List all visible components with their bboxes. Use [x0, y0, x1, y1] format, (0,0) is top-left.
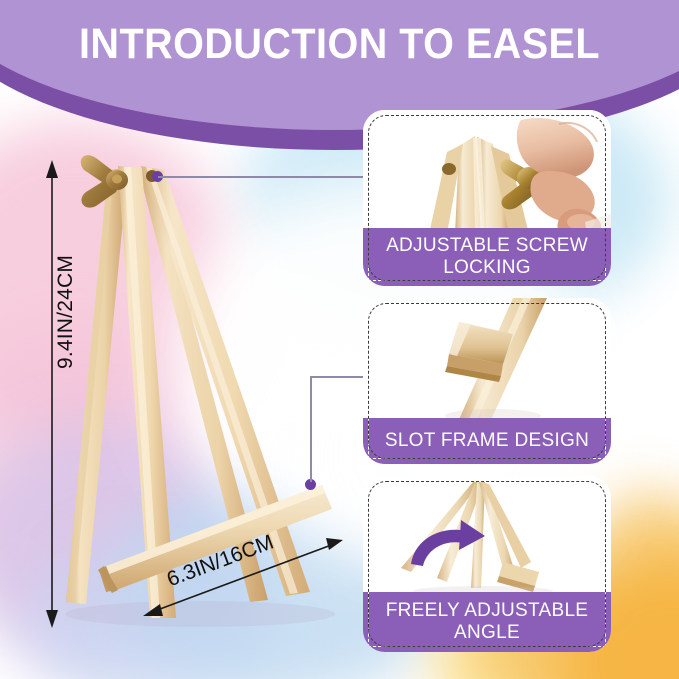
height-dimension-label: 9.4IN/24CM	[54, 252, 78, 372]
feature-photo-slot-frame	[363, 298, 611, 424]
feature-card-adjustable-screw-locking[interactable]: ADJUSTABLE SCREW LOCKING	[363, 110, 611, 286]
feature-label-slot-frame: SLOT FRAME DESIGN	[385, 430, 589, 452]
feature-photo-screw-locking	[363, 110, 611, 234]
callout-line-1	[158, 176, 364, 178]
infographic-page: INTRODUCTION TO EASEL	[0, 0, 679, 679]
feature-card-freely-adjustable-angle[interactable]: FREELY ADJUSTABLE ANGLE	[363, 476, 611, 652]
feature-label-bar-screw-locking: ADJUSTABLE SCREW LOCKING	[363, 228, 611, 286]
feature-card-slot-frame-design[interactable]: SLOT FRAME DESIGN	[363, 298, 611, 464]
feature-label-screw-locking: ADJUSTABLE SCREW LOCKING	[363, 235, 611, 279]
feature-label-adjustable-angle: FREELY ADJUSTABLE ANGLE	[363, 600, 611, 644]
feature-photo-adjustable-angle	[363, 476, 611, 598]
callout-line-2-vertical	[310, 376, 312, 482]
callout-line-2-horizontal	[310, 376, 364, 378]
feature-label-bar-slot-frame: SLOT FRAME DESIGN	[363, 418, 611, 464]
page-title: INTRODUCTION TO EASEL	[27, 18, 652, 70]
feature-label-bar-adjustable-angle: FREELY ADJUSTABLE ANGLE	[363, 592, 611, 652]
